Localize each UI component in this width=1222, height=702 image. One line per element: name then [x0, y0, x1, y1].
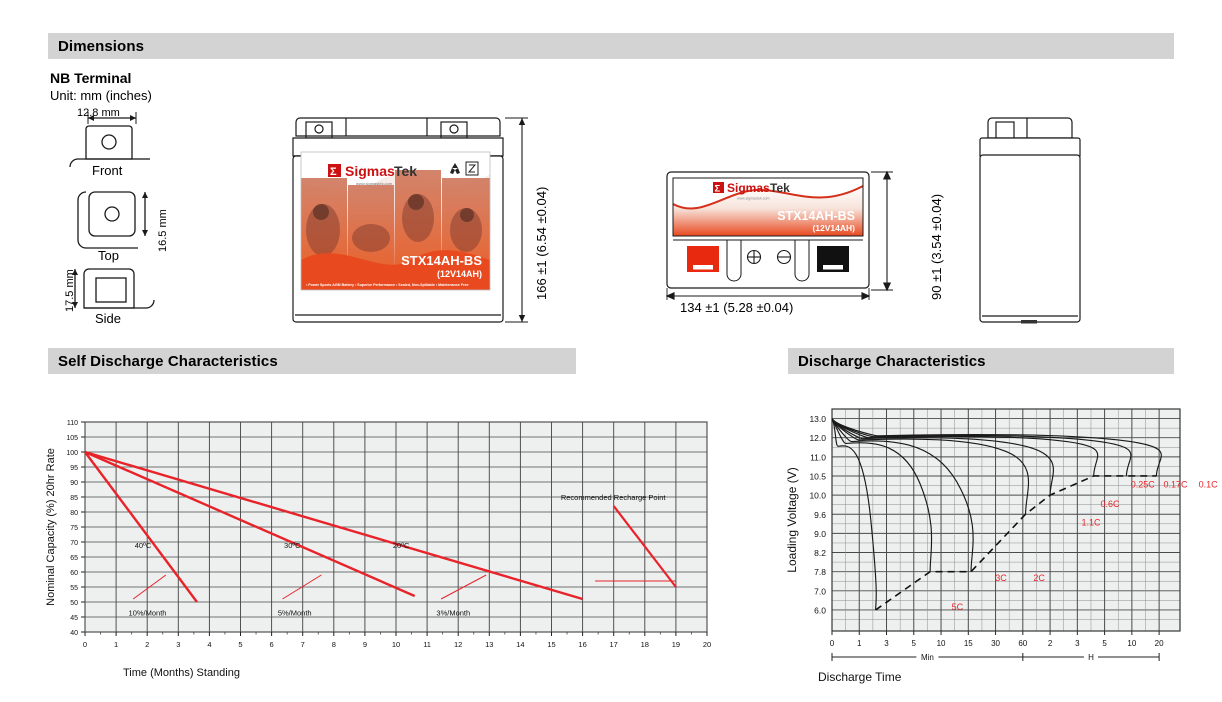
- battery-top-capacity: (12V14AH): [812, 223, 855, 233]
- discharge-chart: 6.07.07.88.29.09.610.010.511.012.013.001…: [780, 395, 1222, 695]
- terminal-front-label: Front: [92, 163, 122, 178]
- svg-text:Tek: Tek: [394, 163, 417, 179]
- x-tick-label: 2: [1048, 639, 1053, 648]
- x-tick-label: 3: [1075, 639, 1080, 648]
- chart-annotation: 30ºC: [284, 541, 301, 550]
- x-tick-label: 0: [830, 639, 835, 648]
- chart-annotation: Recommended Recharge Point: [561, 493, 667, 502]
- y-tick-label: 85: [70, 495, 78, 502]
- terminal-drawings: [48, 104, 238, 334]
- x-tick-label: 15: [964, 639, 973, 648]
- y-tick-label: 13.0: [809, 414, 826, 424]
- y-tick-label: 9.6: [814, 510, 826, 520]
- y-tick-label: 90: [70, 480, 78, 487]
- x-tick-label: 8: [332, 640, 336, 649]
- terminal-top-dim: 16.5 mm: [157, 209, 169, 252]
- unit-note: Unit: mm (inches): [50, 88, 152, 103]
- battery-top-height-dim: 90 ±1 (3.54 ±0.04): [929, 194, 944, 300]
- x-tick-label: 2: [145, 640, 149, 649]
- y-tick-label: 11.0: [810, 452, 826, 462]
- x-tick-label: 5: [1102, 639, 1107, 648]
- x-tick-label: 19: [672, 640, 680, 649]
- x-tick-label: 14: [516, 640, 524, 649]
- x-tick-label: 6: [270, 640, 274, 649]
- x-tick-label: 60: [1018, 639, 1027, 648]
- curve-label-5C: 5C: [952, 602, 964, 612]
- x-tick-label: 9: [363, 640, 367, 649]
- battery-top-model: STX14AH-BS: [777, 209, 855, 223]
- y-tick-label: 6.0: [814, 605, 826, 615]
- battery-top-view: Σ Sigmas Tek www.sigmastek.com STX14AH-B…: [665, 170, 895, 300]
- y-axis-label: Nominal Capacity (%) 20hr Rate: [45, 448, 57, 606]
- curve-label-0.17C: 0.17C: [1163, 479, 1188, 489]
- no-dispose-icon: [466, 162, 478, 175]
- x-tick-label: 3: [884, 639, 889, 648]
- x-tick-label: 17: [610, 640, 618, 649]
- svg-text:Tek: Tek: [770, 181, 790, 195]
- y-tick-label: 45: [70, 615, 78, 622]
- x-tick-label: 20: [703, 640, 711, 649]
- x-tick-label: 30: [991, 639, 1000, 648]
- x-tick-label: 10: [392, 640, 400, 649]
- y-tick-label: 10.0: [809, 491, 826, 501]
- y-tick-label: 7.8: [814, 567, 826, 577]
- y-tick-label: 65: [70, 555, 78, 562]
- curve-label-0.1C: 0.1C: [1199, 479, 1219, 489]
- battery-front-tagline: • Power Sports AGM Battery • Superior Pe…: [306, 283, 468, 287]
- x-tick-label: 16: [578, 640, 586, 649]
- chart-annotation: 20ºC: [393, 541, 410, 550]
- x-tick-label: 5: [912, 639, 917, 648]
- x-tick-label: 20: [1155, 639, 1164, 648]
- section-header-discharge: Discharge Characteristics: [788, 348, 1174, 374]
- section-title-discharge: Discharge Characteristics: [788, 353, 986, 370]
- battery-front-model: STX14AH-BS: [401, 253, 482, 268]
- section-header-self-discharge: Self Discharge Characteristics: [48, 348, 576, 374]
- y-tick-label: 40: [70, 630, 78, 637]
- y-tick-label: 50: [70, 600, 78, 607]
- x-tick-label: 10: [1127, 639, 1136, 648]
- y-tick-label: 12.0: [809, 433, 826, 443]
- x-tick-label: 7: [301, 640, 305, 649]
- x-tick-label: 18: [641, 640, 649, 649]
- x-tick-label: 1: [857, 639, 862, 648]
- chart-annotation: 5%/Month: [278, 609, 312, 618]
- svg-text:Σ: Σ: [330, 166, 337, 178]
- recycle-icon: [448, 162, 462, 175]
- x-tick-label: 3: [176, 640, 180, 649]
- section-title-dimensions: Dimensions: [48, 38, 144, 55]
- terminal-side-dim: 17.5 mm: [64, 269, 76, 312]
- y-tick-label: 8.2: [814, 548, 826, 558]
- self-discharge-chart: 4045505560657075808590951001051100123456…: [40, 410, 720, 690]
- y-tick-label: 55: [70, 585, 78, 592]
- battery-front-height-dim: 166 ±1 (6.54 ±0.04): [534, 187, 549, 300]
- curve-label-1.1C: 1.1C: [1081, 517, 1101, 527]
- terminal-side-label: Side: [95, 311, 121, 326]
- nb-terminal-title: NB Terminal: [50, 70, 131, 86]
- x-unit-hour: H: [1088, 653, 1094, 662]
- y-tick-label: 9.0: [814, 529, 826, 539]
- y-axis-label: Loading Voltage (V): [785, 467, 799, 572]
- y-tick-label: 70: [70, 540, 78, 547]
- x-tick-label: 15: [547, 640, 555, 649]
- y-tick-label: 100: [66, 450, 78, 457]
- x-tick-label: 10: [937, 639, 946, 648]
- svg-text:Σ: Σ: [715, 184, 721, 195]
- svg-text:www.sigmastek.com: www.sigmastek.com: [737, 197, 770, 201]
- y-tick-label: 80: [70, 510, 78, 517]
- chart-annotation: 3%/Month: [436, 609, 470, 618]
- y-tick-label: 75: [70, 525, 78, 532]
- svg-text:Sigmas: Sigmas: [727, 181, 770, 195]
- x-tick-label: 0: [83, 640, 87, 649]
- battery-front-view: Σ Sigmas Tek www.sigmastek.com STX14AH-B…: [290, 100, 540, 330]
- chart-annotation: 10%/Month: [129, 609, 167, 618]
- x-tick-label: 11: [423, 640, 431, 649]
- svg-text:www.sigmastek.com: www.sigmastek.com: [356, 181, 393, 186]
- x-axis-label: Discharge Time: [818, 670, 902, 684]
- section-title-self-discharge: Self Discharge Characteristics: [48, 353, 278, 370]
- curve-label-3C: 3C: [995, 573, 1007, 583]
- battery-side-view: [975, 100, 1085, 330]
- x-tick-label: 12: [454, 640, 462, 649]
- curve-label-0.6C: 0.6C: [1101, 499, 1121, 509]
- y-tick-label: 60: [70, 570, 78, 577]
- curve-label-0.25C: 0.25C: [1131, 479, 1156, 489]
- x-tick-label: 1: [114, 640, 118, 649]
- y-tick-label: 105: [66, 435, 78, 442]
- chart-annotation: 40ºC: [135, 541, 152, 550]
- x-axis-label: Time (Months) Standing: [123, 667, 240, 679]
- x-tick-label: 13: [485, 640, 493, 649]
- x-tick-label: 4: [207, 640, 211, 649]
- y-tick-label: 7.0: [814, 586, 826, 596]
- terminal-front-dim: 12.8 mm: [77, 107, 120, 119]
- y-tick-label: 10.5: [809, 471, 826, 481]
- curve-label-2C: 2C: [1033, 573, 1045, 583]
- section-header-dimensions: Dimensions: [48, 33, 1174, 59]
- battery-front-capacity: (12V14AH): [437, 269, 482, 279]
- battery-top-width-dim: 134 ±1 (5.28 ±0.04): [680, 300, 793, 315]
- svg-text:Sigmas: Sigmas: [345, 163, 395, 179]
- terminal-top-label: Top: [98, 248, 119, 263]
- y-tick-label: 95: [70, 465, 78, 472]
- x-tick-label: 5: [238, 640, 242, 649]
- y-tick-label: 110: [67, 420, 78, 427]
- x-unit-min: Min: [921, 653, 934, 662]
